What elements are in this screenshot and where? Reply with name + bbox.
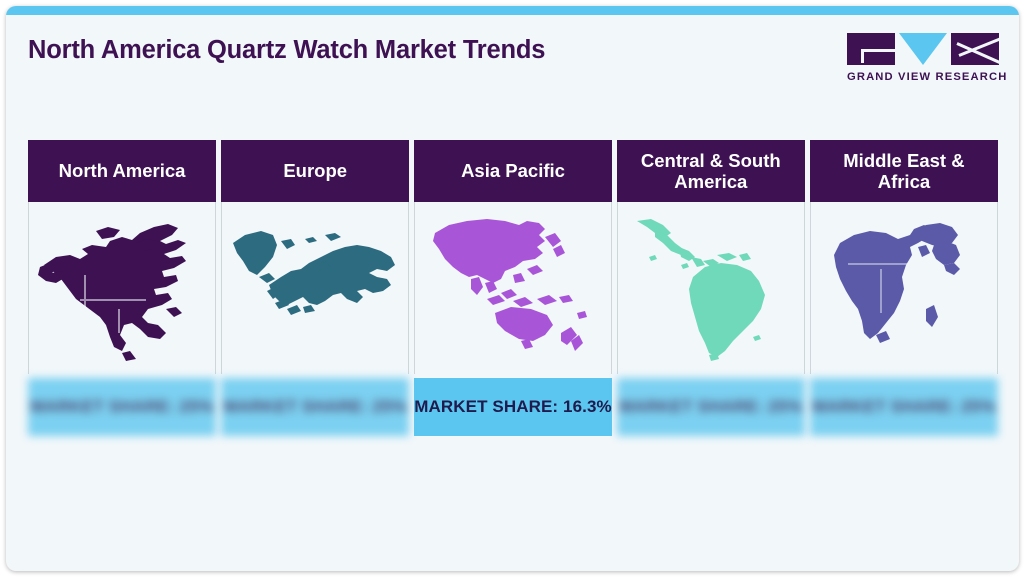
region-title-north-america: North America [28,140,216,202]
region-card-asia-pacific[interactable]: Asia Pacific [414,140,611,436]
logo-v-triangle-icon [899,33,947,65]
region-card-middle-east-africa[interactable]: Middle East & Africa [810,140,998,436]
top-accent-bar [6,6,1019,15]
market-share-badge-central-south-america: MARKET SHARE: 25% [617,378,805,436]
region-card-europe[interactable]: Europe [221,140,409,436]
logo-marks [847,33,999,67]
region-grid: North America [28,140,998,436]
europe-map-icon [221,202,409,374]
asia-pacific-map-icon [414,202,611,374]
market-share-badge-north-america: MARKET SHARE: 25% [28,378,216,436]
infographic-header: North America Quartz Watch Market Trends… [6,15,1019,115]
region-card-north-america[interactable]: North America [28,140,216,436]
logo-g-block-icon [847,33,895,65]
region-title-asia-pacific: Asia Pacific [414,140,611,202]
grand-view-research-logo: GRAND VIEW RESEARCH [847,33,999,91]
region-title-central-south-america: Central & South America [617,140,805,202]
region-card-central-south-america[interactable]: Central & South America [617,140,805,436]
market-share-badge-asia-pacific: MARKET SHARE: 16.3% [414,378,611,436]
market-share-badge-middle-east-africa: MARKET SHARE: 25% [810,378,998,436]
region-title-europe: Europe [221,140,409,202]
logo-r-block-icon [951,33,999,65]
middle-east-africa-map-icon [810,202,998,374]
infographic-panel: North America Quartz Watch Market Trends… [6,6,1019,571]
market-share-badge-europe: MARKET SHARE: 25% [221,378,409,436]
north-america-map-icon [28,202,216,374]
logo-wordmark: GRAND VIEW RESEARCH [847,71,999,83]
region-title-middle-east-africa: Middle East & Africa [810,140,998,202]
central-south-america-map-icon [617,202,805,374]
page-title: North America Quartz Watch Market Trends [28,36,545,65]
